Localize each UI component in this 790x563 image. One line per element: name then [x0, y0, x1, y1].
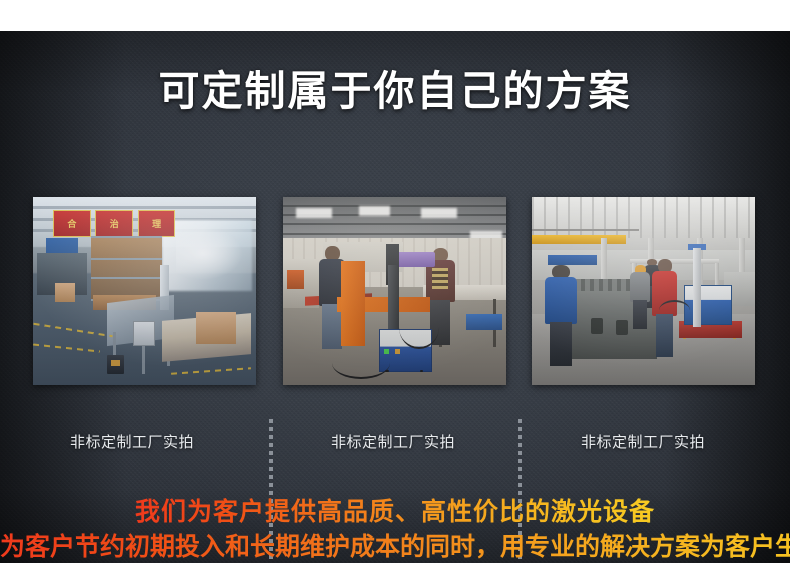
- photo-gallery: 合 治 理: [0, 197, 790, 385]
- dark-background-panel: 可定制属于你自己的方案 合 治 理: [0, 31, 790, 563]
- promo-banner: 可定制属于你自己的方案 合 治 理: [0, 0, 790, 563]
- slogan-line-2-text: 为客户节约初期投入和长期维护成本的同时，用专业的解决方案为客户生产提速: [0, 532, 790, 561]
- slogan-line-2: 为客户节约初期投入和长期维护成本的同时，用专业的解决方案为客户生产提速: [0, 531, 790, 563]
- photo-card-3[interactable]: [532, 197, 755, 385]
- slogan-line-1: 我们为客户提供高品质、高性价比的激光设备: [0, 496, 790, 528]
- photo-card-2[interactable]: [283, 197, 506, 385]
- factory-warehouse-photo: 合 治 理: [33, 197, 256, 385]
- banner-word-1: 合: [53, 210, 91, 236]
- photo-card-1[interactable]: 合 治 理: [33, 197, 256, 385]
- banner-word-3: 理: [138, 210, 176, 236]
- photo-caption-3: 非标定制工厂实拍: [518, 431, 768, 453]
- slogan-line-1-text: 我们为客户提供高品质、高性价比的激光设备: [135, 497, 655, 526]
- laser-marking-workshop-photo: [283, 197, 506, 385]
- top-white-strip: [0, 0, 790, 31]
- laser-cleaning-hall-photo: [532, 197, 755, 385]
- banner-word-2: 治: [95, 210, 133, 236]
- photo-caption-2: 非标定制工厂实拍: [268, 431, 518, 453]
- photo-caption-1: 非标定制工厂实拍: [7, 431, 257, 453]
- page-title: 可定制属于你自己的方案: [0, 67, 790, 115]
